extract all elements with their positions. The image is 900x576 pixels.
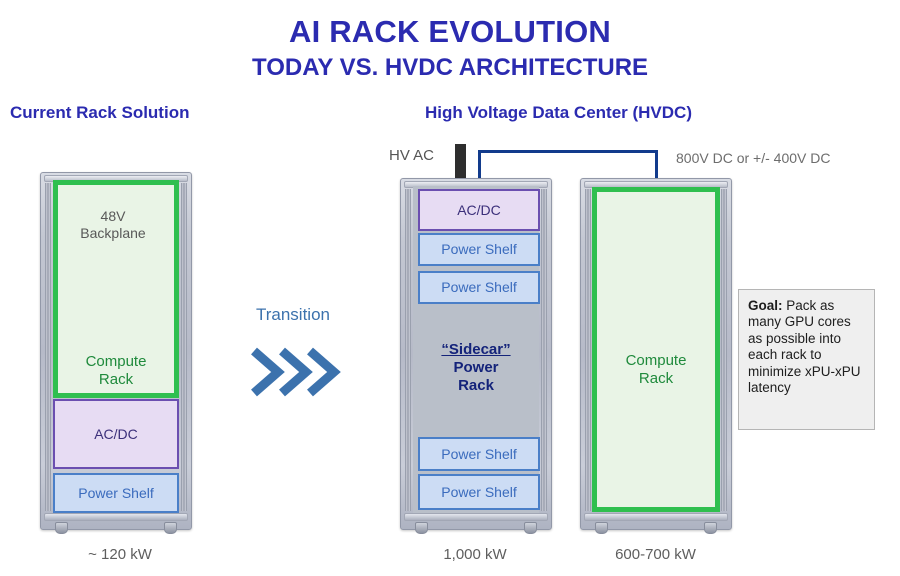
rack-post-right	[541, 189, 547, 511]
rack-post-right	[721, 189, 727, 511]
caption-compute-rack-power: 600-700 kW	[578, 546, 733, 563]
section-heading-current-rack: Current Rack Solution	[10, 103, 189, 123]
section-heading-hvdc: High Voltage Data Center (HVDC)	[425, 103, 692, 123]
sidecar-acdc-block: AC/DC	[418, 189, 540, 231]
rack-caster	[415, 522, 428, 534]
caption-current-rack-power: ~ 120 kW	[45, 546, 195, 563]
hvdc-compute-label: Compute Rack	[597, 352, 715, 388]
left-rack-power-shelf: Power Shelf	[53, 473, 179, 513]
rack-post-left	[585, 189, 591, 511]
left-compute-line1: Compute	[86, 353, 147, 370]
goal-callout-box: Goal: Pack as many GPU cores as possible…	[738, 289, 875, 430]
backplane-label-line2: Backplane	[80, 225, 145, 241]
left-power-shelf-label: Power Shelf	[78, 485, 153, 502]
rack-post-right	[181, 183, 187, 511]
sidecar-label-line2: Power	[453, 359, 498, 377]
sidecar-shelf-label-1: Power Shelf	[441, 241, 516, 258]
left-acdc-label: AC/DC	[94, 426, 138, 443]
hvdc-compute-block: Compute Rack	[592, 187, 720, 512]
backplane-label: 48V Backplane	[58, 208, 168, 242]
sidecar-shelf-label-3: Power Shelf	[441, 446, 516, 463]
dc-voltage-label: 800V DC or +/- 400V DC	[676, 150, 830, 166]
left-rack-acdc-block: AC/DC	[53, 399, 179, 469]
rack-caster	[704, 522, 717, 534]
rack-post-left	[45, 183, 51, 511]
goal-heading: Goal:	[748, 298, 783, 313]
sidecar-shelf-label-2: Power Shelf	[441, 279, 516, 296]
transition-chevrons-icon	[248, 345, 343, 400]
sidecar-power-shelf-top-1: Power Shelf	[418, 233, 540, 266]
sidecar-label-line1: “Sidecar”	[441, 341, 510, 359]
rack-caster	[524, 522, 537, 534]
rack-caster	[55, 522, 68, 534]
rack-post-left	[405, 189, 411, 511]
page-title: AI RACK EVOLUTION	[0, 14, 900, 50]
sidecar-rack-label: “Sidecar” Power Rack	[413, 330, 539, 406]
sidecar-power-shelf-bottom-2: Power Shelf	[418, 474, 540, 510]
rack-caster	[595, 522, 608, 534]
caption-sidecar-power: 1,000 kW	[400, 546, 550, 563]
sidecar-power-shelf-bottom-1: Power Shelf	[418, 437, 540, 471]
rack-caster	[164, 522, 177, 534]
sidecar-label-line3: Rack	[458, 377, 494, 395]
backplane-label-line1: 48V	[101, 208, 126, 224]
sidecar-acdc-label: AC/DC	[457, 202, 501, 219]
hvdc-compute-line1: Compute	[626, 352, 687, 369]
hv-ac-bar-icon	[455, 144, 466, 182]
hvdc-compute-line2: Rack	[639, 370, 673, 387]
left-compute-label: Compute Rack	[58, 353, 174, 389]
transition-label: Transition	[238, 305, 348, 325]
left-compute-line2: Rack	[99, 371, 133, 388]
hv-ac-label: HV AC	[389, 147, 434, 164]
page-subtitle: TODAY VS. HVDC ARCHITECTURE	[0, 54, 900, 82]
sidecar-power-shelf-top-2: Power Shelf	[418, 271, 540, 304]
sidecar-shelf-label-4: Power Shelf	[441, 484, 516, 501]
